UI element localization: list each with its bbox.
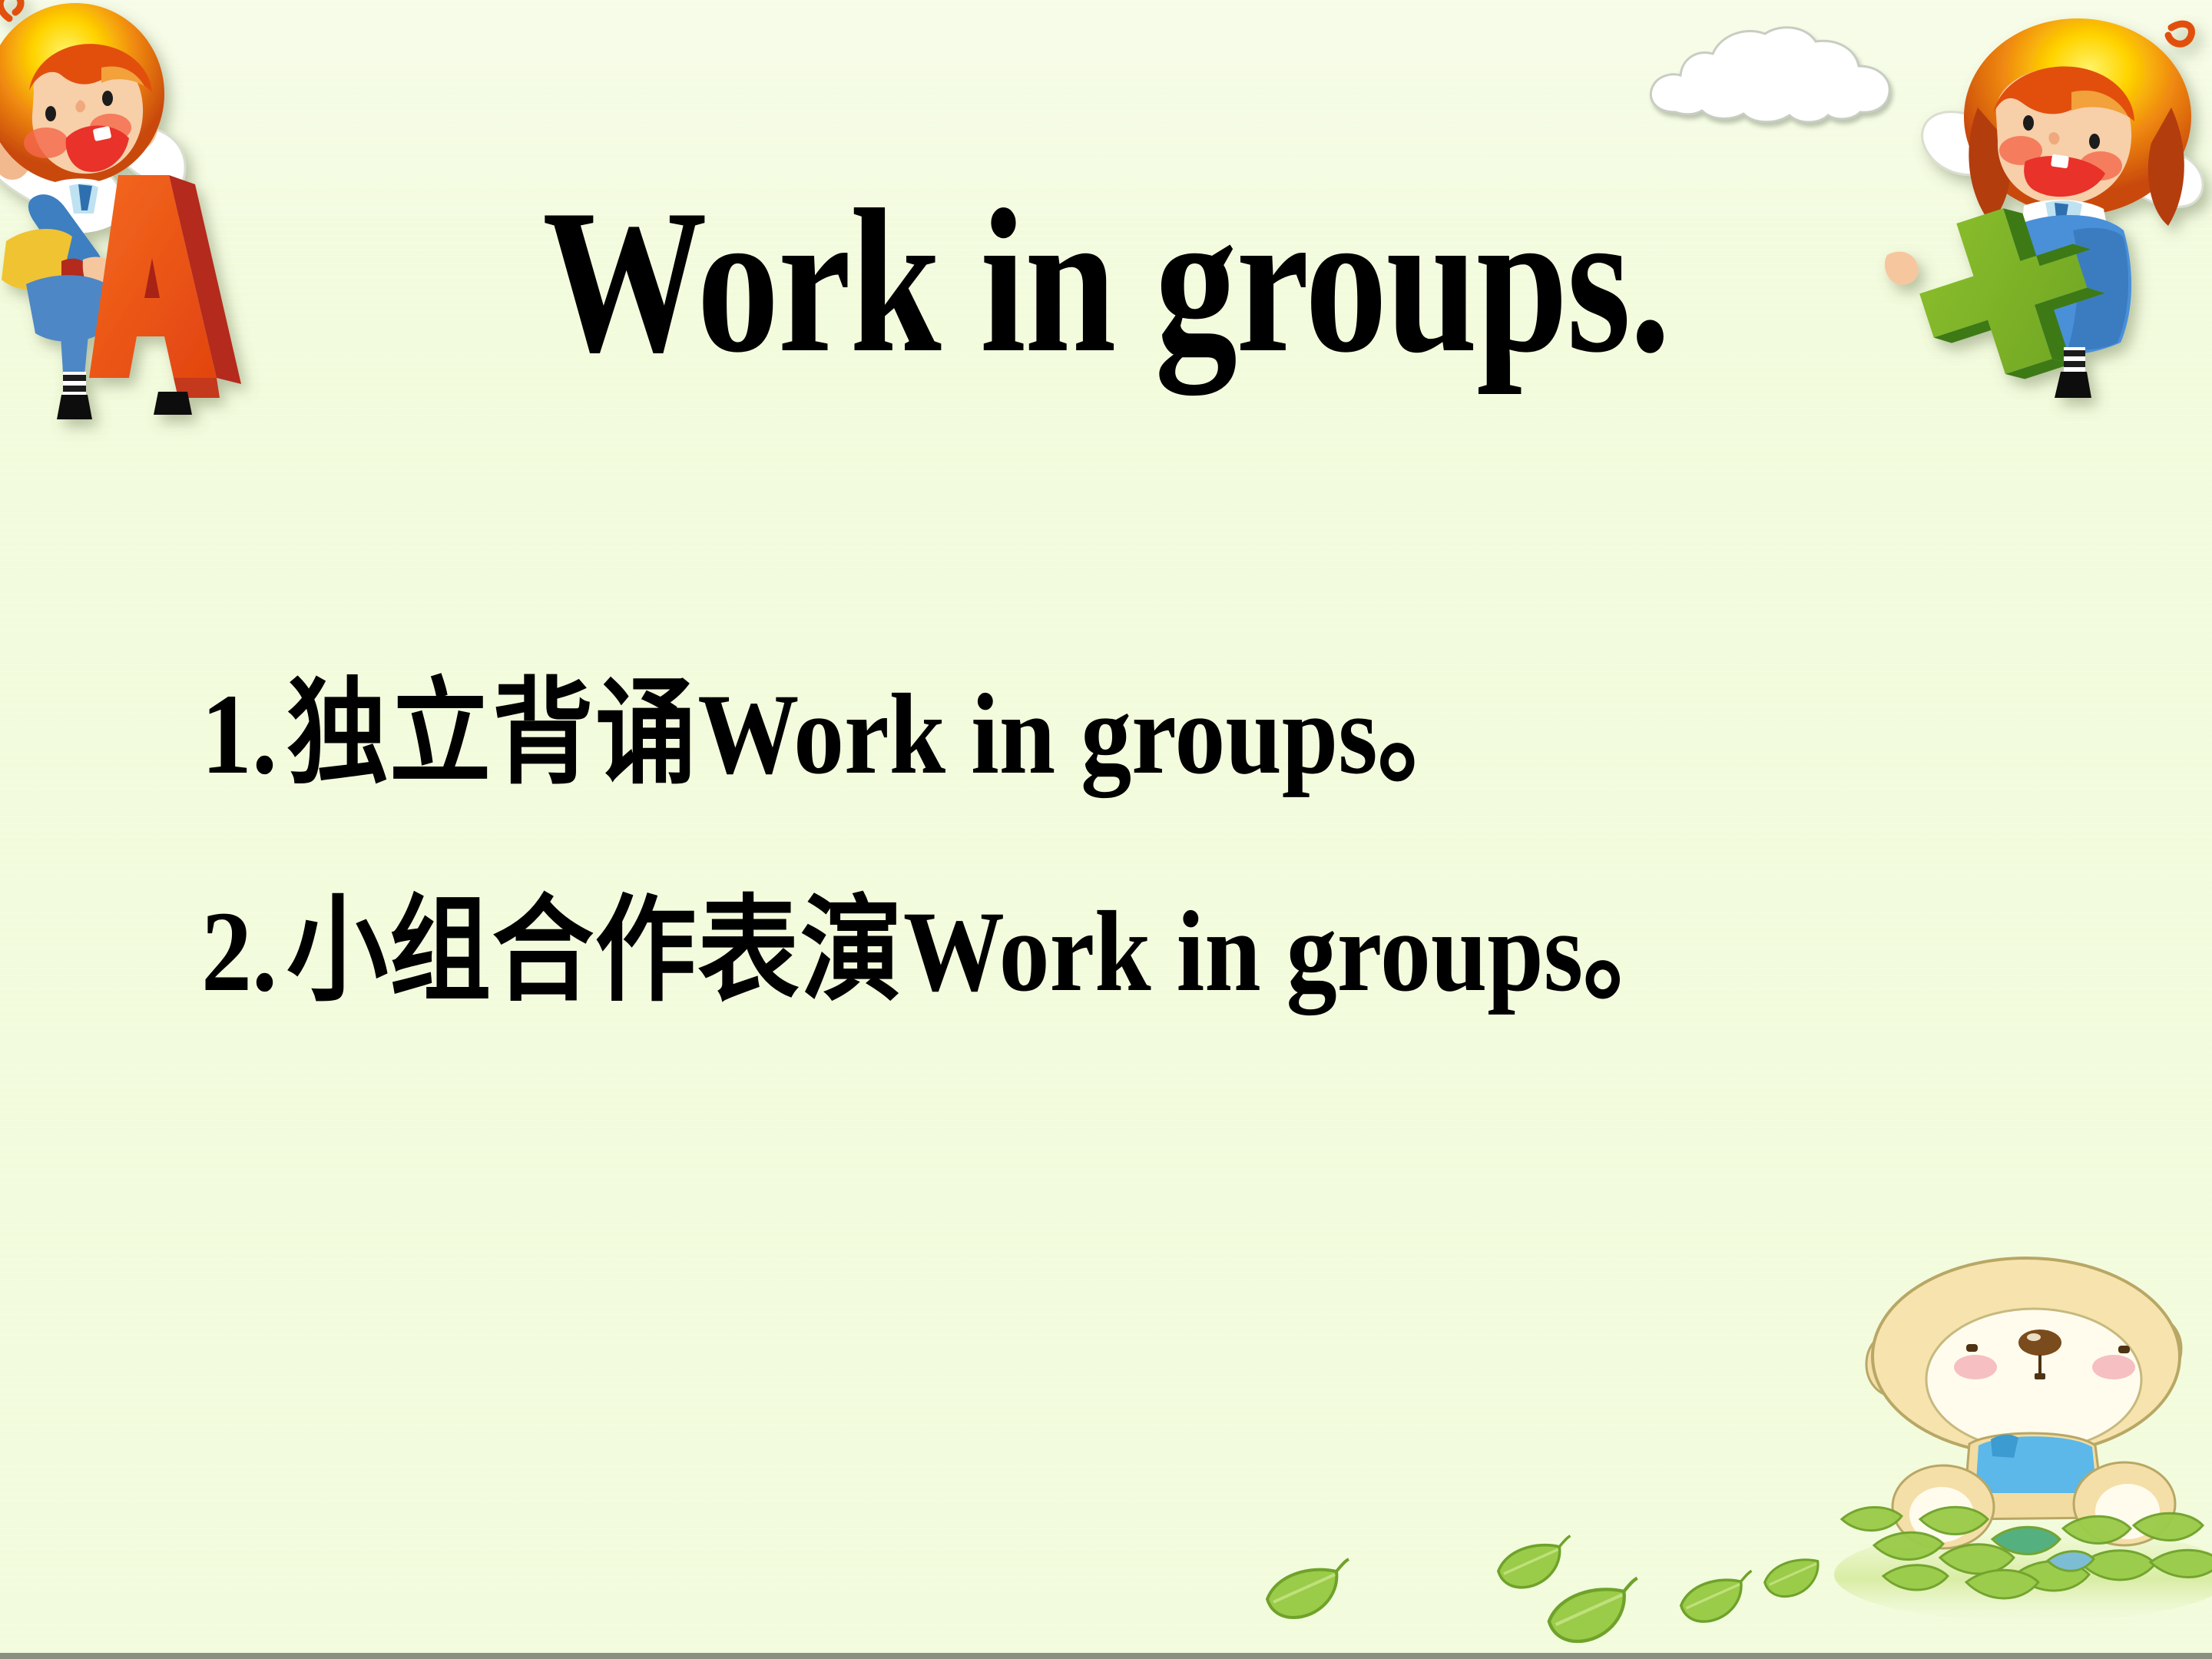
leaf-icon bbox=[1759, 1547, 1830, 1608]
list-item-period: 。 bbox=[1378, 667, 1479, 800]
list-item-period: 。 bbox=[1583, 884, 1684, 1018]
leaf-icon bbox=[1674, 1565, 1754, 1634]
list-item-chinese: 独立背诵 bbox=[286, 667, 697, 800]
slide-canvas: Work in groups. 1.独立背诵Work in groups。 2.… bbox=[0, 0, 2212, 1659]
list-item: 1.独立背诵Work in groups。 bbox=[201, 676, 1823, 792]
list-item-english: Work in groups bbox=[903, 888, 1583, 1015]
list-item-chinese: 小组合作表演 bbox=[286, 884, 903, 1018]
list-item-number: 2. bbox=[201, 888, 277, 1015]
instruction-list: 1.独立背诵Work in groups。 2.小组合作表演Work in gr… bbox=[201, 676, 2045, 1009]
leaf-icon bbox=[1260, 1553, 1352, 1631]
leaf-icon bbox=[1541, 1571, 1641, 1655]
slide-bottom-border bbox=[0, 1653, 2212, 1659]
cloud-icon bbox=[1644, 22, 1897, 137]
list-item: 2.小组合作表演Work in groups。 bbox=[201, 893, 1823, 1009]
page-title: Work in groups. bbox=[221, 178, 1991, 384]
bear-in-leaves-illustration bbox=[1828, 1214, 2212, 1655]
list-item-english: Work in groups bbox=[697, 671, 1377, 798]
list-item-number: 1. bbox=[201, 671, 277, 798]
